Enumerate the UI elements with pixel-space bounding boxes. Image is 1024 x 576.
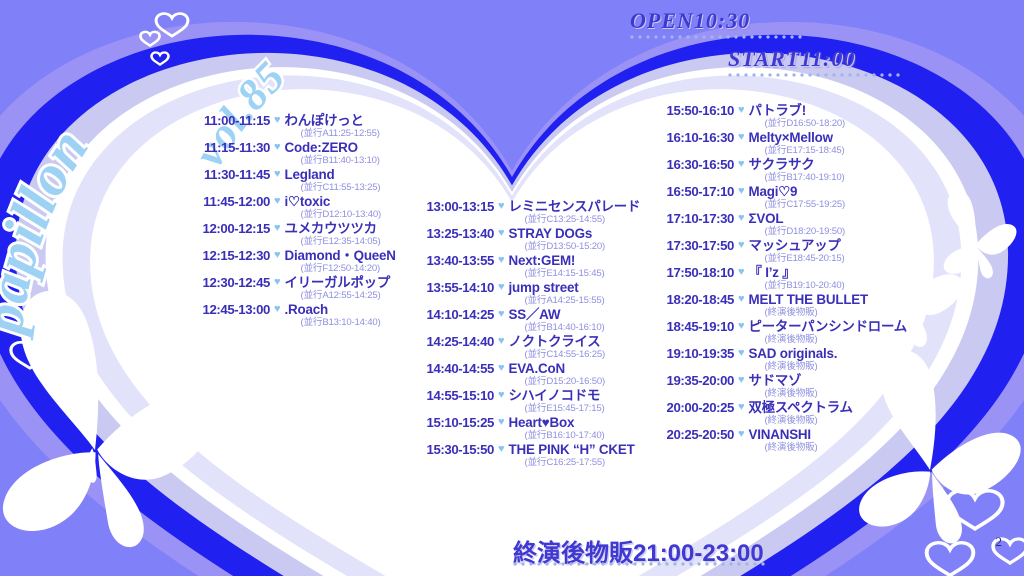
slot-time: 11:00-11:15 bbox=[186, 113, 270, 128]
slot-time: 12:45-13:00 bbox=[186, 302, 270, 317]
artist-name: STRAY DOGs bbox=[509, 226, 606, 241]
slot-note: (終演後物販) bbox=[749, 442, 818, 453]
artist-name: Diamond・QueeN bbox=[285, 248, 396, 263]
slot-note: (並行A11:25-12:55) bbox=[285, 128, 380, 139]
slot-note: (終演後物販) bbox=[749, 415, 853, 426]
slot-note: (並行A14:25-15:55) bbox=[509, 295, 605, 306]
heart-icon: ♥ bbox=[738, 238, 745, 253]
slot-details: 双極スペクトラム(終演後物販) bbox=[749, 400, 853, 426]
artist-name: jump street bbox=[509, 280, 605, 295]
heart-icon: ♥ bbox=[274, 275, 281, 290]
heart-icon: ♥ bbox=[498, 253, 505, 268]
slot-time: 12:30-12:45 bbox=[186, 275, 270, 290]
slot-note: (並行B11:40-13:10) bbox=[285, 155, 380, 166]
schedule-column-3: 15:50-16:10♥パトラブ!(並行D16:50-18:20)16:10-1… bbox=[650, 103, 907, 454]
schedule-row: 14:40-14:55♥EVA.CoN(並行D15:20-16:50) bbox=[410, 361, 640, 387]
artist-name: Legland bbox=[285, 167, 381, 182]
slot-note: (並行F12:50-14:20) bbox=[285, 263, 396, 274]
slot-time: 14:40-14:55 bbox=[410, 361, 494, 376]
artist-name: EVA.CoN bbox=[509, 361, 606, 376]
schedule-row: 14:55-15:10♥シハイノコドモ(並行E15:45-17:15) bbox=[410, 388, 640, 414]
slot-note: (終演後物販) bbox=[749, 361, 838, 372]
slot-details: パトラブ!(並行D16:50-18:20) bbox=[749, 103, 846, 129]
slot-details: マッシュアップ(並行E18:45-20:15) bbox=[749, 238, 845, 264]
schedule-row: 17:50-18:10♥『 I’z 』(並行B19:10-20:40) bbox=[650, 265, 907, 291]
schedule-row: 11:00-11:15♥わんぽけっと(並行A11:25-12:55) bbox=[186, 113, 396, 139]
slot-details: Code:ZERO(並行B11:40-13:10) bbox=[285, 140, 380, 166]
schedule-row: 17:10-17:30♥ΣVOL(並行D18:20-19:50) bbox=[650, 211, 907, 237]
schedule-row: 13:40-13:55♥Next:GEM!(並行E14:15-15:45) bbox=[410, 253, 640, 279]
heart-icon: ♥ bbox=[498, 442, 505, 457]
slot-details: レミニセンスパレード(並行C13:25-14:55) bbox=[509, 199, 641, 225]
slot-details: わんぽけっと(並行A11:25-12:55) bbox=[285, 113, 380, 139]
slot-note: (並行E17:15-18:45) bbox=[749, 145, 845, 156]
slot-details: サドマゾ(終演後物販) bbox=[749, 373, 818, 399]
schedule-row: 11:30-11:45♥Legland(並行C11:55-13:25) bbox=[186, 167, 396, 193]
slot-time: 16:30-16:50 bbox=[650, 157, 734, 172]
slot-note: (並行B13:10-14:40) bbox=[285, 317, 381, 328]
slot-details: i♡toxic(並行D12:10-13:40) bbox=[285, 194, 382, 220]
slot-note: (並行B16:10-17:40) bbox=[509, 430, 605, 441]
page-number: 2 bbox=[996, 534, 1003, 550]
heart-icon: ♥ bbox=[498, 307, 505, 322]
slot-details: サクラサク(並行B17:40-19:10) bbox=[749, 157, 845, 183]
heart-icon: ♥ bbox=[274, 302, 281, 317]
schedule-row: 19:35-20:00♥サドマゾ(終演後物販) bbox=[650, 373, 907, 399]
schedule-row: 18:45-19:10♥ピーターパンシンドローム(終演後物販) bbox=[650, 319, 907, 345]
slot-details: ユメカウツツカ(並行E12:35-14:05) bbox=[285, 221, 381, 247]
artist-name: レミニセンスパレード bbox=[509, 199, 641, 214]
slot-note: (並行A12:55-14:25) bbox=[285, 290, 391, 301]
slot-details: MELT THE BULLET(終演後物販) bbox=[749, 292, 868, 318]
heart-icon: ♥ bbox=[738, 346, 745, 361]
artist-name: シハイノコドモ bbox=[509, 388, 605, 403]
artist-name: 『 I’z 』 bbox=[749, 265, 845, 280]
slot-note: (並行E14:15-15:45) bbox=[509, 268, 605, 279]
artist-name: THE PINK “H” CKET bbox=[509, 442, 635, 457]
schedule-row: 15:10-15:25♥Heart♥Box(並行B16:10-17:40) bbox=[410, 415, 640, 441]
slot-note: (終演後物販) bbox=[749, 307, 868, 318]
slot-details: jump street(並行A14:25-15:55) bbox=[509, 280, 605, 306]
schedule-column-2: 13:00-13:15♥レミニセンスパレード(並行C13:25-14:55)13… bbox=[410, 199, 640, 469]
slot-note: (並行D12:10-13:40) bbox=[285, 209, 382, 220]
artist-name: ΣVOL bbox=[749, 211, 846, 226]
schedule-row: 18:20-18:45♥MELT THE BULLET(終演後物販) bbox=[650, 292, 907, 318]
slot-details: .Roach(並行B13:10-14:40) bbox=[285, 302, 381, 328]
slot-note: (並行B14:40-16:10) bbox=[509, 322, 605, 333]
slot-time: 13:25-13:40 bbox=[410, 226, 494, 241]
artist-name: .Roach bbox=[285, 302, 381, 317]
artist-name: ノクトクライス bbox=[509, 334, 606, 349]
schedule-row: 13:55-14:10♥jump street(並行A14:25-15:55) bbox=[410, 280, 640, 306]
artist-name: イリーガルポップ bbox=[285, 275, 391, 290]
slot-time: 11:15-11:30 bbox=[186, 140, 270, 155]
artist-name: 双極スペクトラム bbox=[749, 400, 853, 415]
slot-note: (並行D15:20-16:50) bbox=[509, 376, 606, 387]
slot-note: (並行D13:50-15:20) bbox=[509, 241, 606, 252]
slot-time: 13:55-14:10 bbox=[410, 280, 494, 295]
heart-icon: ♥ bbox=[274, 221, 281, 236]
slot-time: 13:00-13:15 bbox=[410, 199, 494, 214]
slot-time: 14:10-14:25 bbox=[410, 307, 494, 322]
slot-details: イリーガルポップ(並行A12:55-14:25) bbox=[285, 275, 391, 301]
slot-note: (並行B19:10-20:40) bbox=[749, 280, 845, 291]
heart-icon: ♥ bbox=[274, 194, 281, 209]
slot-note: (並行C13:25-14:55) bbox=[509, 214, 641, 225]
heart-icon: ♥ bbox=[738, 373, 745, 388]
open-underline-dots bbox=[628, 35, 804, 39]
slot-time: 14:55-15:10 bbox=[410, 388, 494, 403]
slot-time: 17:50-18:10 bbox=[650, 265, 734, 280]
slot-time: 20:25-20:50 bbox=[650, 427, 734, 442]
slot-time: 15:10-15:25 bbox=[410, 415, 494, 430]
heart-icon: ♥ bbox=[274, 140, 281, 155]
schedule-row: 12:15-12:30♥Diamond・QueeN(並行F12:50-14:20… bbox=[186, 248, 396, 274]
slot-details: シハイノコドモ(並行E15:45-17:15) bbox=[509, 388, 605, 414]
slot-details: STRAY DOGs(並行D13:50-15:20) bbox=[509, 226, 606, 252]
slot-time: 11:45-12:00 bbox=[186, 194, 270, 209]
slot-note: (並行C11:55-13:25) bbox=[285, 182, 381, 193]
artist-name: Melty×Mellow bbox=[749, 130, 845, 145]
schedule-row: 14:10-14:25♥SS／AW(並行B14:40-16:10) bbox=[410, 307, 640, 333]
slot-details: VINANSHI(終演後物販) bbox=[749, 427, 818, 453]
heart-icon: ♥ bbox=[738, 292, 745, 307]
artist-name: マッシュアップ bbox=[749, 238, 845, 253]
artist-name: Code:ZERO bbox=[285, 140, 380, 155]
slot-details: Diamond・QueeN(並行F12:50-14:20) bbox=[285, 248, 396, 274]
slot-note: (並行D16:50-18:20) bbox=[749, 118, 846, 129]
heart-icon: ♥ bbox=[498, 388, 505, 403]
slot-time: 14:25-14:40 bbox=[410, 334, 494, 349]
slot-note: (終演後物販) bbox=[749, 388, 818, 399]
slot-time: 18:20-18:45 bbox=[650, 292, 734, 307]
slot-details: Magi♡9(並行C17:55-19:25) bbox=[749, 184, 846, 210]
slot-time: 17:10-17:30 bbox=[650, 211, 734, 226]
schedule-row: 16:30-16:50♥サクラサク(並行B17:40-19:10) bbox=[650, 157, 907, 183]
heart-icon: ♥ bbox=[738, 103, 745, 118]
slot-note: (並行E12:35-14:05) bbox=[285, 236, 381, 247]
schedule-column-1: 11:00-11:15♥わんぽけっと(並行A11:25-12:55)11:15-… bbox=[186, 113, 396, 329]
slot-note: (並行C17:55-19:25) bbox=[749, 199, 846, 210]
open-time-label: OPEN10:30 bbox=[630, 8, 750, 34]
after-show-underline-dots bbox=[511, 562, 766, 566]
heart-icon: ♥ bbox=[274, 167, 281, 182]
heart-icon: ♥ bbox=[738, 427, 745, 442]
slot-note: (終演後物販) bbox=[749, 334, 907, 345]
heart-icon: ♥ bbox=[738, 130, 745, 145]
slot-details: Next:GEM!(並行E14:15-15:45) bbox=[509, 253, 605, 279]
poster-canvas: papillon vol.85 OPEN10:30 START11:00 11:… bbox=[0, 0, 1024, 576]
heart-icon: ♥ bbox=[498, 415, 505, 430]
heart-icon: ♥ bbox=[498, 361, 505, 376]
schedule-row: 16:50-17:10♥Magi♡9(並行C17:55-19:25) bbox=[650, 184, 907, 210]
slot-time: 15:30-15:50 bbox=[410, 442, 494, 457]
schedule-row: 15:30-15:50♥THE PINK “H” CKET(並行C16:25-1… bbox=[410, 442, 640, 468]
artist-name: SS／AW bbox=[509, 307, 605, 322]
schedule-row: 17:30-17:50♥マッシュアップ(並行E18:45-20:15) bbox=[650, 238, 907, 264]
slot-time: 19:35-20:00 bbox=[650, 373, 734, 388]
slot-time: 20:00-20:25 bbox=[650, 400, 734, 415]
slot-details: EVA.CoN(並行D15:20-16:50) bbox=[509, 361, 606, 387]
artist-name: VINANSHI bbox=[749, 427, 818, 442]
slot-time: 16:50-17:10 bbox=[650, 184, 734, 199]
artist-name: ピーターパンシンドローム bbox=[749, 319, 907, 334]
artist-name: Heart♥Box bbox=[509, 415, 605, 430]
slot-details: Legland(並行C11:55-13:25) bbox=[285, 167, 381, 193]
schedule-row: 12:00-12:15♥ユメカウツツカ(並行E12:35-14:05) bbox=[186, 221, 396, 247]
artist-name: ユメカウツツカ bbox=[285, 221, 381, 236]
slot-note: (並行D18:20-19:50) bbox=[749, 226, 846, 237]
artist-name: MELT THE BULLET bbox=[749, 292, 868, 307]
heart-icon: ♥ bbox=[738, 265, 745, 280]
artist-name: i♡toxic bbox=[285, 194, 382, 209]
heart-icon: ♥ bbox=[738, 184, 745, 199]
schedule-row: 14:25-14:40♥ノクトクライス(並行C14:55-16:25) bbox=[410, 334, 640, 360]
slot-time: 13:40-13:55 bbox=[410, 253, 494, 268]
slot-details: ΣVOL(並行D18:20-19:50) bbox=[749, 211, 846, 237]
heart-icon: ♥ bbox=[738, 157, 745, 172]
schedule-row: 11:45-12:00♥i♡toxic(並行D12:10-13:40) bbox=[186, 194, 396, 220]
artist-name: サクラサク bbox=[749, 157, 845, 172]
schedule-row: 12:30-12:45♥イリーガルポップ(並行A12:55-14:25) bbox=[186, 275, 396, 301]
slot-time: 16:10-16:30 bbox=[650, 130, 734, 145]
slot-time: 18:45-19:10 bbox=[650, 319, 734, 334]
artist-name: SAD originals. bbox=[749, 346, 838, 361]
slot-note: (並行E18:45-20:15) bbox=[749, 253, 845, 264]
slot-time: 12:00-12:15 bbox=[186, 221, 270, 236]
slot-time: 12:15-12:30 bbox=[186, 248, 270, 263]
slot-details: SAD originals.(終演後物販) bbox=[749, 346, 838, 372]
heart-icon: ♥ bbox=[274, 248, 281, 263]
start-underline-dots bbox=[726, 73, 902, 77]
slot-details: Heart♥Box(並行B16:10-17:40) bbox=[509, 415, 605, 441]
slot-details: 『 I’z 』(並行B19:10-20:40) bbox=[749, 265, 845, 291]
start-time-label: START11:00 bbox=[728, 46, 855, 72]
heart-icon: ♥ bbox=[498, 199, 505, 214]
artist-name: わんぽけっと bbox=[285, 113, 380, 128]
heart-icon: ♥ bbox=[498, 226, 505, 241]
slot-details: SS／AW(並行B14:40-16:10) bbox=[509, 307, 605, 333]
schedule-row: 13:00-13:15♥レミニセンスパレード(並行C13:25-14:55) bbox=[410, 199, 640, 225]
schedule-row: 16:10-16:30♥Melty×Mellow(並行E17:15-18:45) bbox=[650, 130, 907, 156]
slot-details: Melty×Mellow(並行E17:15-18:45) bbox=[749, 130, 845, 156]
schedule-row: 13:25-13:40♥STRAY DOGs(並行D13:50-15:20) bbox=[410, 226, 640, 252]
heart-icon: ♥ bbox=[498, 334, 505, 349]
slot-note: (並行E15:45-17:15) bbox=[509, 403, 605, 414]
artist-name: パトラブ! bbox=[749, 103, 846, 118]
heart-icon: ♥ bbox=[498, 280, 505, 295]
slot-time: 15:50-16:10 bbox=[650, 103, 734, 118]
schedule-row: 11:15-11:30♥Code:ZERO(並行B11:40-13:10) bbox=[186, 140, 396, 166]
slot-time: 17:30-17:50 bbox=[650, 238, 734, 253]
slot-details: ピーターパンシンドローム(終演後物販) bbox=[749, 319, 907, 345]
heart-icon: ♥ bbox=[738, 319, 745, 334]
schedule-row: 12:45-13:00♥.Roach(並行B13:10-14:40) bbox=[186, 302, 396, 328]
schedule-row: 20:00-20:25♥双極スペクトラム(終演後物販) bbox=[650, 400, 907, 426]
schedule-row: 20:25-20:50♥VINANSHI(終演後物販) bbox=[650, 427, 907, 453]
heart-icon: ♥ bbox=[738, 400, 745, 415]
schedule-row: 19:10-19:35♥SAD originals.(終演後物販) bbox=[650, 346, 907, 372]
slot-time: 19:10-19:35 bbox=[650, 346, 734, 361]
heart-icon: ♥ bbox=[738, 211, 745, 226]
artist-name: Next:GEM! bbox=[509, 253, 605, 268]
artist-name: Magi♡9 bbox=[749, 184, 846, 199]
slot-note: (並行C16:25-17:55) bbox=[509, 457, 635, 468]
artist-name: サドマゾ bbox=[749, 373, 818, 388]
slot-details: THE PINK “H” CKET(並行C16:25-17:55) bbox=[509, 442, 635, 468]
slot-time: 11:30-11:45 bbox=[186, 167, 270, 182]
slot-note: (並行B17:40-19:10) bbox=[749, 172, 845, 183]
schedule-row: 15:50-16:10♥パトラブ!(並行D16:50-18:20) bbox=[650, 103, 907, 129]
slot-note: (並行C14:55-16:25) bbox=[509, 349, 606, 360]
heart-icon: ♥ bbox=[274, 113, 281, 128]
slot-details: ノクトクライス(並行C14:55-16:25) bbox=[509, 334, 606, 360]
